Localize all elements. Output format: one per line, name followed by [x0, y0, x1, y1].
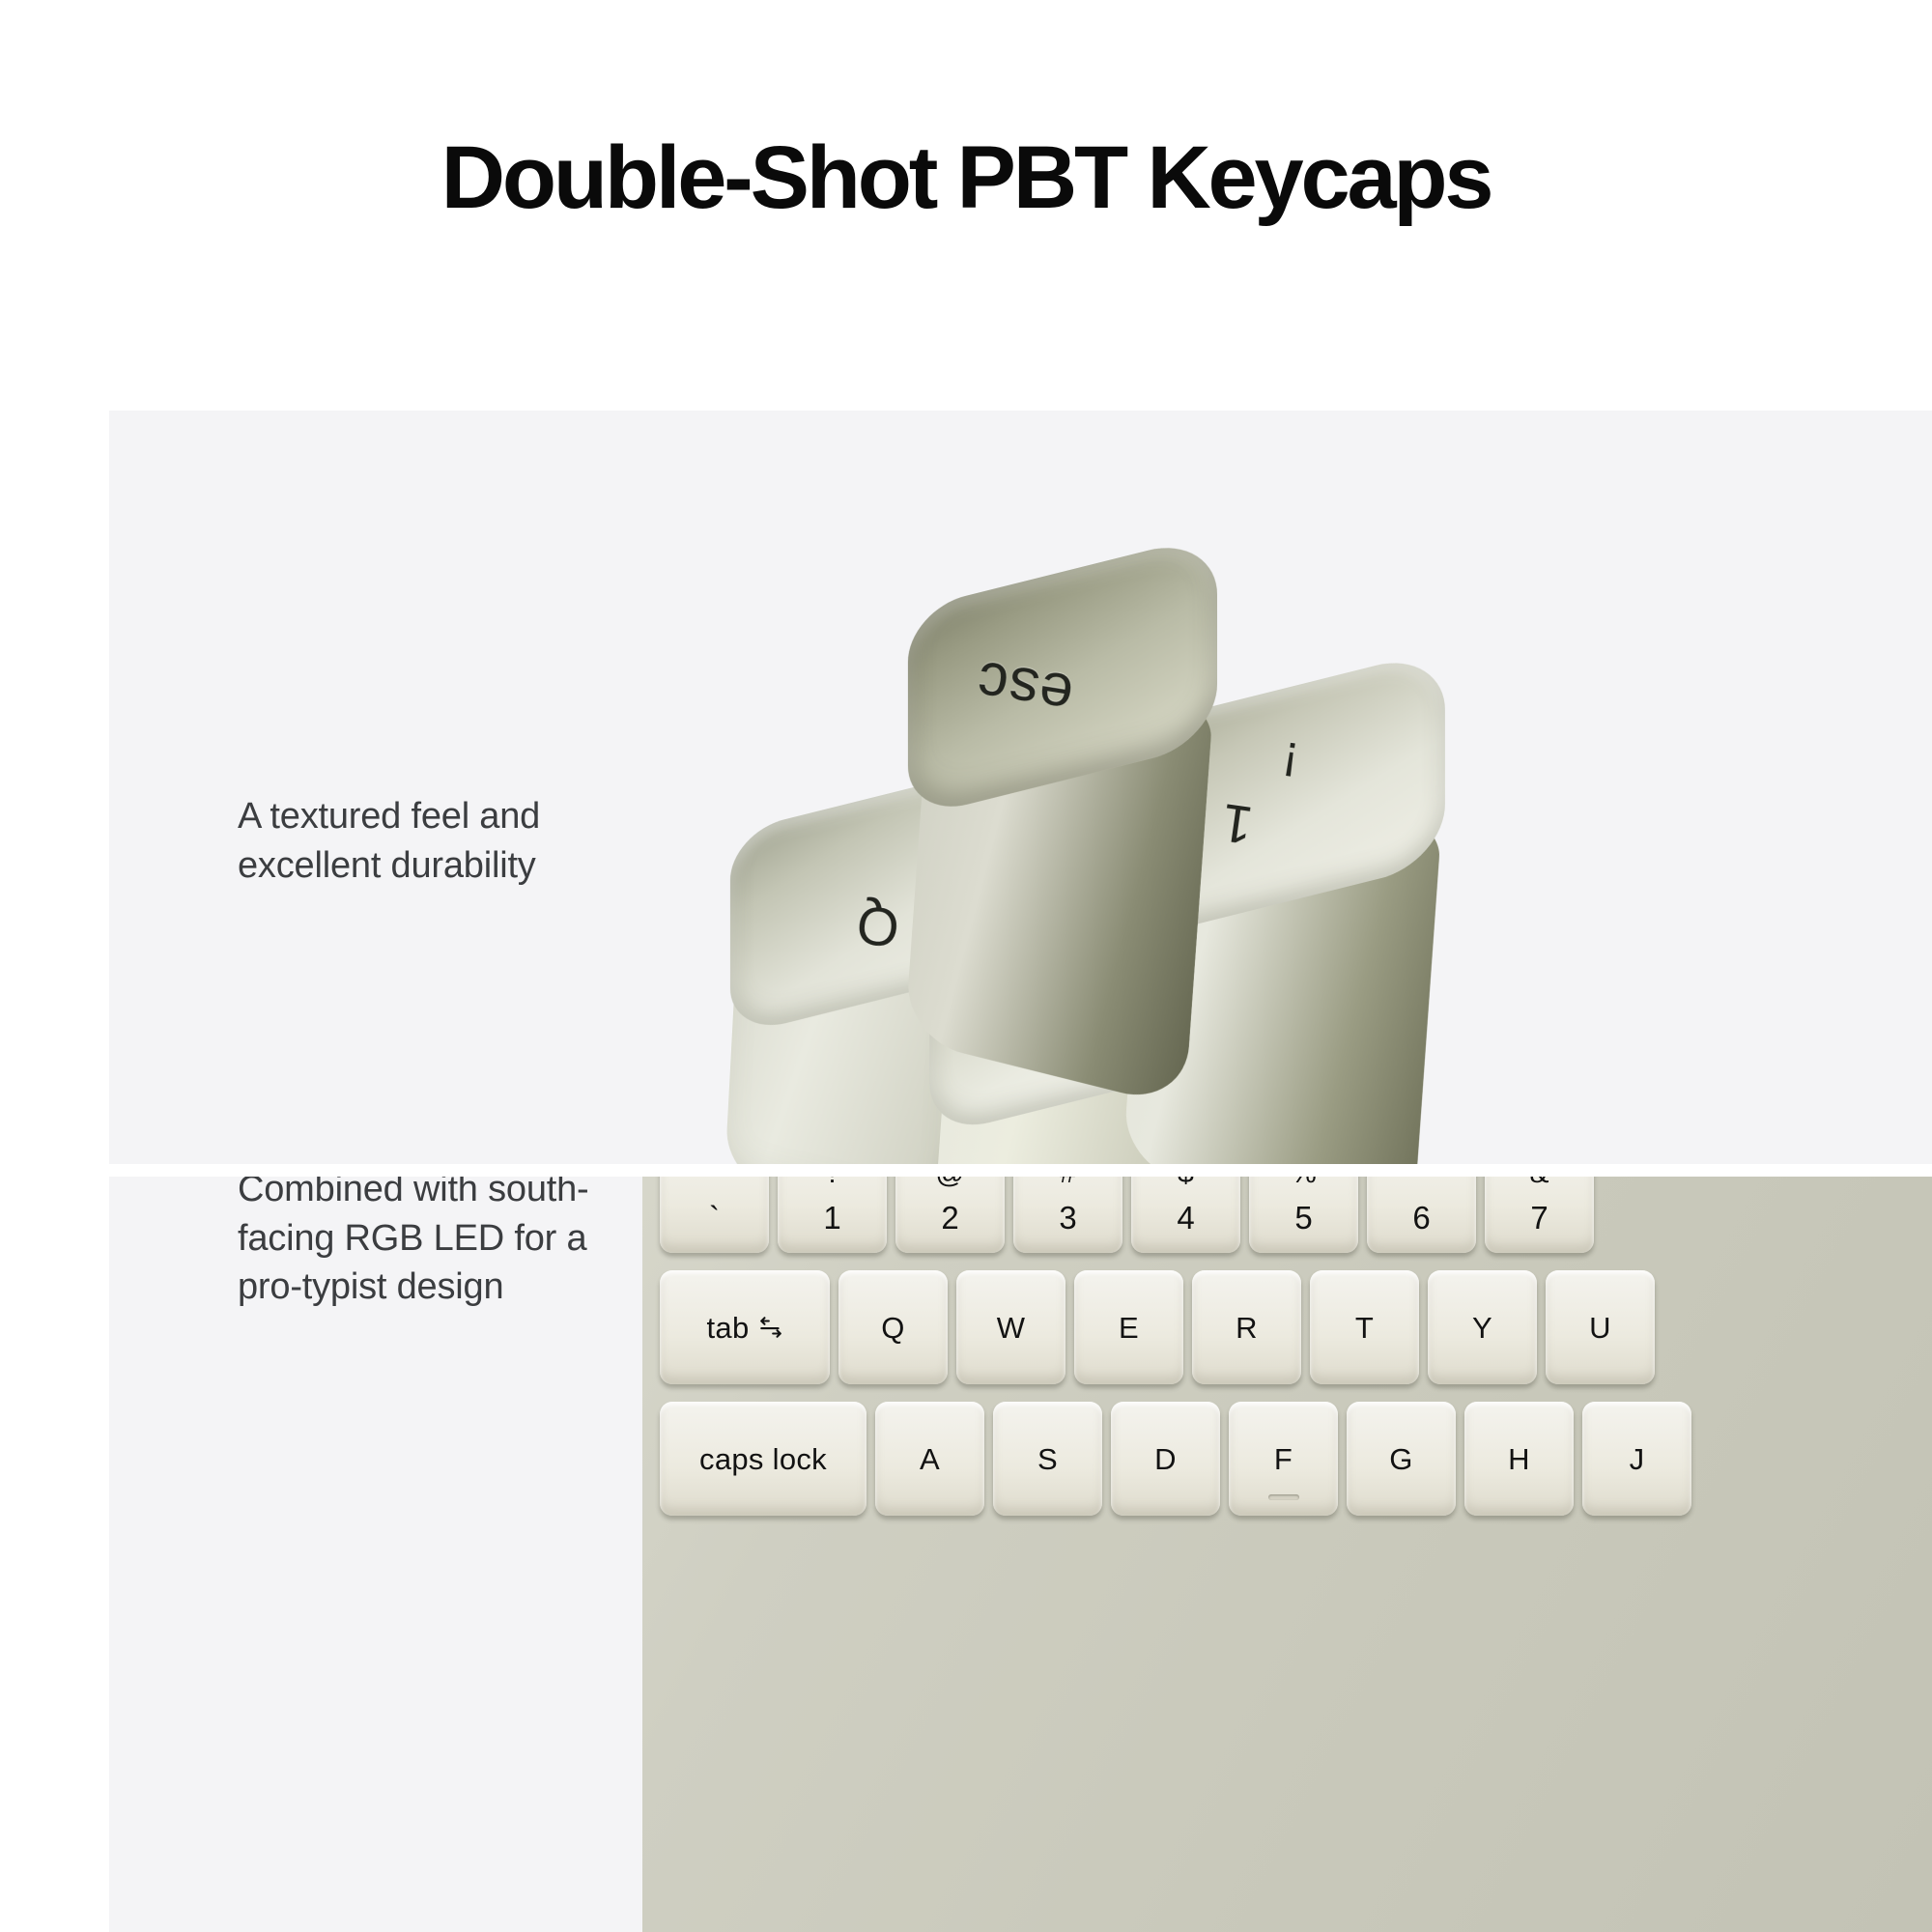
key-tilde[interactable]: ~`: [660, 1177, 769, 1253]
key-g[interactable]: G: [1347, 1402, 1456, 1516]
key-legend: R: [1236, 1313, 1258, 1343]
key-2[interactable]: @2: [895, 1177, 1005, 1253]
key-q[interactable]: Q: [838, 1270, 948, 1384]
key-legend-shifted: ^: [1414, 1177, 1428, 1188]
key-legend: 6: [1412, 1202, 1430, 1234]
key-legend: caps lock: [699, 1444, 827, 1474]
key-caps-lock[interactable]: caps lock: [660, 1402, 867, 1516]
keycap-trio-render: Q W ! 1 esc: [611, 411, 1577, 1164]
key-4[interactable]: $4: [1131, 1177, 1240, 1253]
key-legend: D: [1154, 1444, 1177, 1474]
keycap-esc: esc: [870, 555, 1276, 971]
key-legend: Q: [881, 1313, 904, 1343]
key-legend-shifted: !: [828, 1177, 836, 1188]
product-feature-page: Double-Shot PBT Keycaps A textured feel …: [0, 0, 1932, 1932]
key-f[interactable]: F: [1229, 1402, 1338, 1516]
keycap-esc-legend: esc: [972, 647, 1077, 730]
key-s[interactable]: S: [993, 1402, 1102, 1516]
key-legend: J: [1630, 1444, 1645, 1474]
key-legend-shifted: %: [1291, 1177, 1317, 1188]
key-legend: G: [1389, 1444, 1412, 1474]
key-legend: T: [1355, 1313, 1374, 1343]
key-legend: 1: [823, 1202, 840, 1234]
homing-bar: [1268, 1494, 1299, 1500]
key-legend: H: [1508, 1444, 1530, 1474]
key-legend: 5: [1294, 1202, 1312, 1234]
keyboard-row-home-row: caps lockASDFGHJ: [660, 1402, 1932, 1529]
key-legend-shifted: @: [935, 1177, 964, 1188]
key-legend: A: [920, 1444, 940, 1474]
feature-panel-keycap-closeup: A textured feel and excellent durability…: [109, 411, 1932, 1164]
key-legend: 4: [1177, 1202, 1194, 1234]
key-legend-shifted: #: [1060, 1177, 1076, 1188]
key-legend: tab: [707, 1313, 750, 1343]
key-legend: E: [1119, 1313, 1139, 1343]
key-legend: 2: [941, 1202, 958, 1234]
keyboard-row-number-row: ~`!1@2#3$4%5^6&7: [660, 1177, 1932, 1266]
key-legend: `: [709, 1202, 720, 1234]
key-7[interactable]: &7: [1485, 1177, 1594, 1253]
key-legend: U: [1589, 1313, 1611, 1343]
key-j[interactable]: J: [1582, 1402, 1691, 1516]
key-a[interactable]: A: [875, 1402, 984, 1516]
feature-panel-rgb-keyboard: Combined with south- facing RGB LED for …: [109, 1177, 1932, 1932]
key-legend-shifted: $: [1178, 1177, 1194, 1188]
keyboard-plate: escF1F2 F3 F4F5F6~`!1@2#3$4%5^6&7 tab: [642, 1177, 1932, 1932]
key-3[interactable]: #3: [1013, 1177, 1122, 1253]
key-y[interactable]: Y: [1428, 1270, 1537, 1384]
keyboard-row-qwerty-row: tab QWERTYU: [660, 1270, 1932, 1398]
key-legend: 7: [1530, 1202, 1548, 1234]
key-6[interactable]: ^6: [1367, 1177, 1476, 1253]
tab-arrows-icon: [752, 1315, 783, 1340]
key-legend: Y: [1472, 1313, 1492, 1343]
key-h[interactable]: H: [1464, 1402, 1574, 1516]
key-u[interactable]: U: [1546, 1270, 1655, 1384]
key-r[interactable]: R: [1192, 1270, 1301, 1384]
key-t[interactable]: T: [1310, 1270, 1419, 1384]
key-5[interactable]: %5: [1249, 1177, 1358, 1253]
page-title: Double-Shot PBT Keycaps: [0, 131, 1932, 225]
key-e[interactable]: E: [1074, 1270, 1183, 1384]
rgb-keyboard-photo: escF1F2 F3 F4F5F6~`!1@2#3$4%5^6&7 tab: [642, 1177, 1932, 1932]
key-legend-shifted: &: [1529, 1177, 1548, 1188]
key-tab[interactable]: tab: [660, 1270, 830, 1384]
key-legend: W: [997, 1313, 1026, 1343]
key-legend: 3: [1059, 1202, 1076, 1234]
keyboard-rows: escF1F2 F3 F4F5F6~`!1@2#3$4%5^6&7 tab: [660, 1177, 1932, 1533]
key-1[interactable]: !1: [778, 1177, 887, 1253]
key-w[interactable]: W: [956, 1270, 1065, 1384]
key-legend-shifted: ~: [706, 1177, 724, 1188]
key-legend: S: [1037, 1444, 1058, 1474]
key-d[interactable]: D: [1111, 1402, 1220, 1516]
key-legend: F: [1274, 1444, 1293, 1474]
